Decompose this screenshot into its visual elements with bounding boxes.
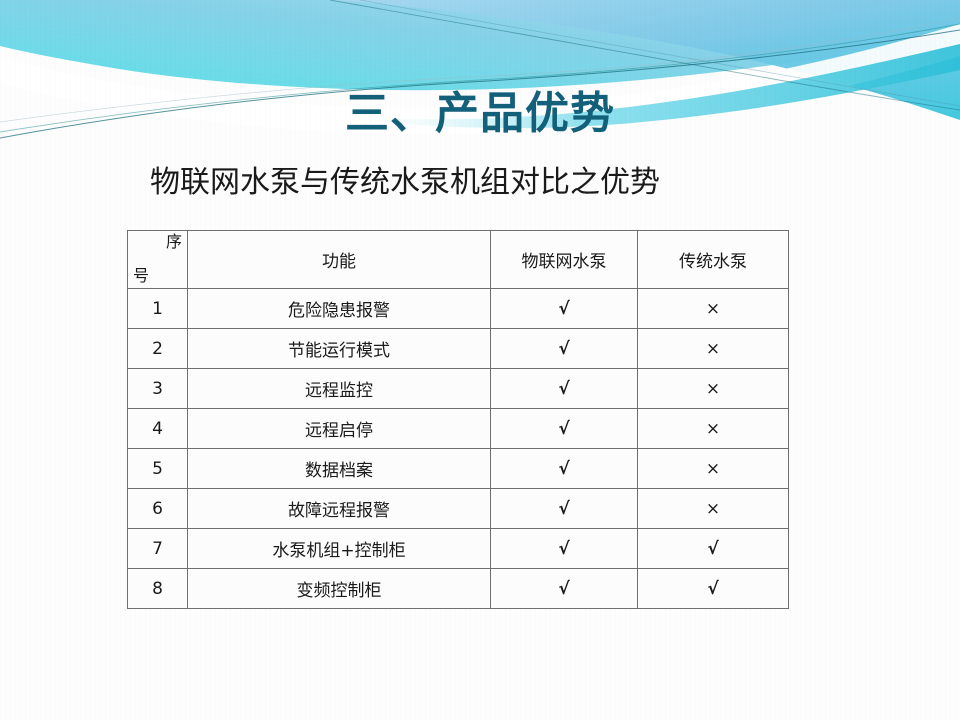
table-row: 4 远程启停 √ × (128, 409, 789, 449)
table-row: 1 危险隐患报警 √ × (128, 289, 789, 329)
cell-iot-mark: √ (491, 489, 638, 529)
cell-sequence: 7 (128, 529, 188, 569)
cell-traditional-mark: × (638, 329, 789, 369)
cell-sequence: 3 (128, 369, 188, 409)
cell-function: 远程启停 (188, 409, 491, 449)
cell-traditional-mark: × (638, 449, 789, 489)
table-row: 3 远程监控 √ × (128, 369, 789, 409)
cell-traditional-mark: × (638, 409, 789, 449)
header-cell-traditional-pump: 传统水泵 (638, 231, 789, 289)
cell-function: 节能运行模式 (188, 329, 491, 369)
cell-sequence: 8 (128, 569, 188, 609)
table-row: 5 数据档案 √ × (128, 449, 789, 489)
header-cell-iot-pump: 物联网水泵 (491, 231, 638, 289)
cell-sequence: 1 (128, 289, 188, 329)
table-row: 2 节能运行模式 √ × (128, 329, 789, 369)
cell-sequence: 2 (128, 329, 188, 369)
cell-traditional-mark: × (638, 489, 789, 529)
cell-iot-mark: √ (491, 529, 638, 569)
cell-function: 危险隐患报警 (188, 289, 491, 329)
header-sequence-bottom: 号 (133, 268, 149, 284)
cell-function: 数据档案 (188, 449, 491, 489)
cell-iot-mark: √ (491, 369, 638, 409)
cell-iot-mark: √ (491, 409, 638, 449)
cell-traditional-mark: × (638, 289, 789, 329)
comparison-table: 序 号 功能 物联网水泵 传统水泵 1 危险隐患报警 √ × 2 节能运行模式 … (127, 230, 789, 609)
cell-function: 远程监控 (188, 369, 491, 409)
cell-function: 水泵机组+控制柜 (188, 529, 491, 569)
cell-function: 变频控制柜 (188, 569, 491, 609)
cell-iot-mark: √ (491, 449, 638, 489)
cell-iot-mark: √ (491, 289, 638, 329)
cell-sequence: 6 (128, 489, 188, 529)
table-row: 8 变频控制柜 √ √ (128, 569, 789, 609)
header-sequence-top: 序 (166, 234, 182, 250)
header-cell-sequence: 序 号 (128, 231, 188, 289)
cell-sequence: 5 (128, 449, 188, 489)
page-title: 三、产品优势 (0, 92, 960, 136)
cell-function: 故障远程报警 (188, 489, 491, 529)
slide-subtitle: 物联网水泵与传统水泵机组对比之优势 (0, 166, 960, 199)
cell-iot-mark: √ (491, 329, 638, 369)
header-cell-function: 功能 (188, 231, 491, 289)
cell-iot-mark: √ (491, 569, 638, 609)
cell-traditional-mark: × (638, 369, 789, 409)
table-header-row: 序 号 功能 物联网水泵 传统水泵 (128, 231, 789, 289)
cell-traditional-mark: √ (638, 569, 789, 609)
cell-sequence: 4 (128, 409, 188, 449)
slide-canvas: 三、产品优势 物联网水泵与传统水泵机组对比之优势 序 号 功能 物联网水泵 传统… (0, 0, 960, 720)
cell-traditional-mark: √ (638, 529, 789, 569)
table-row: 7 水泵机组+控制柜 √ √ (128, 529, 789, 569)
table-row: 6 故障远程报警 √ × (128, 489, 789, 529)
